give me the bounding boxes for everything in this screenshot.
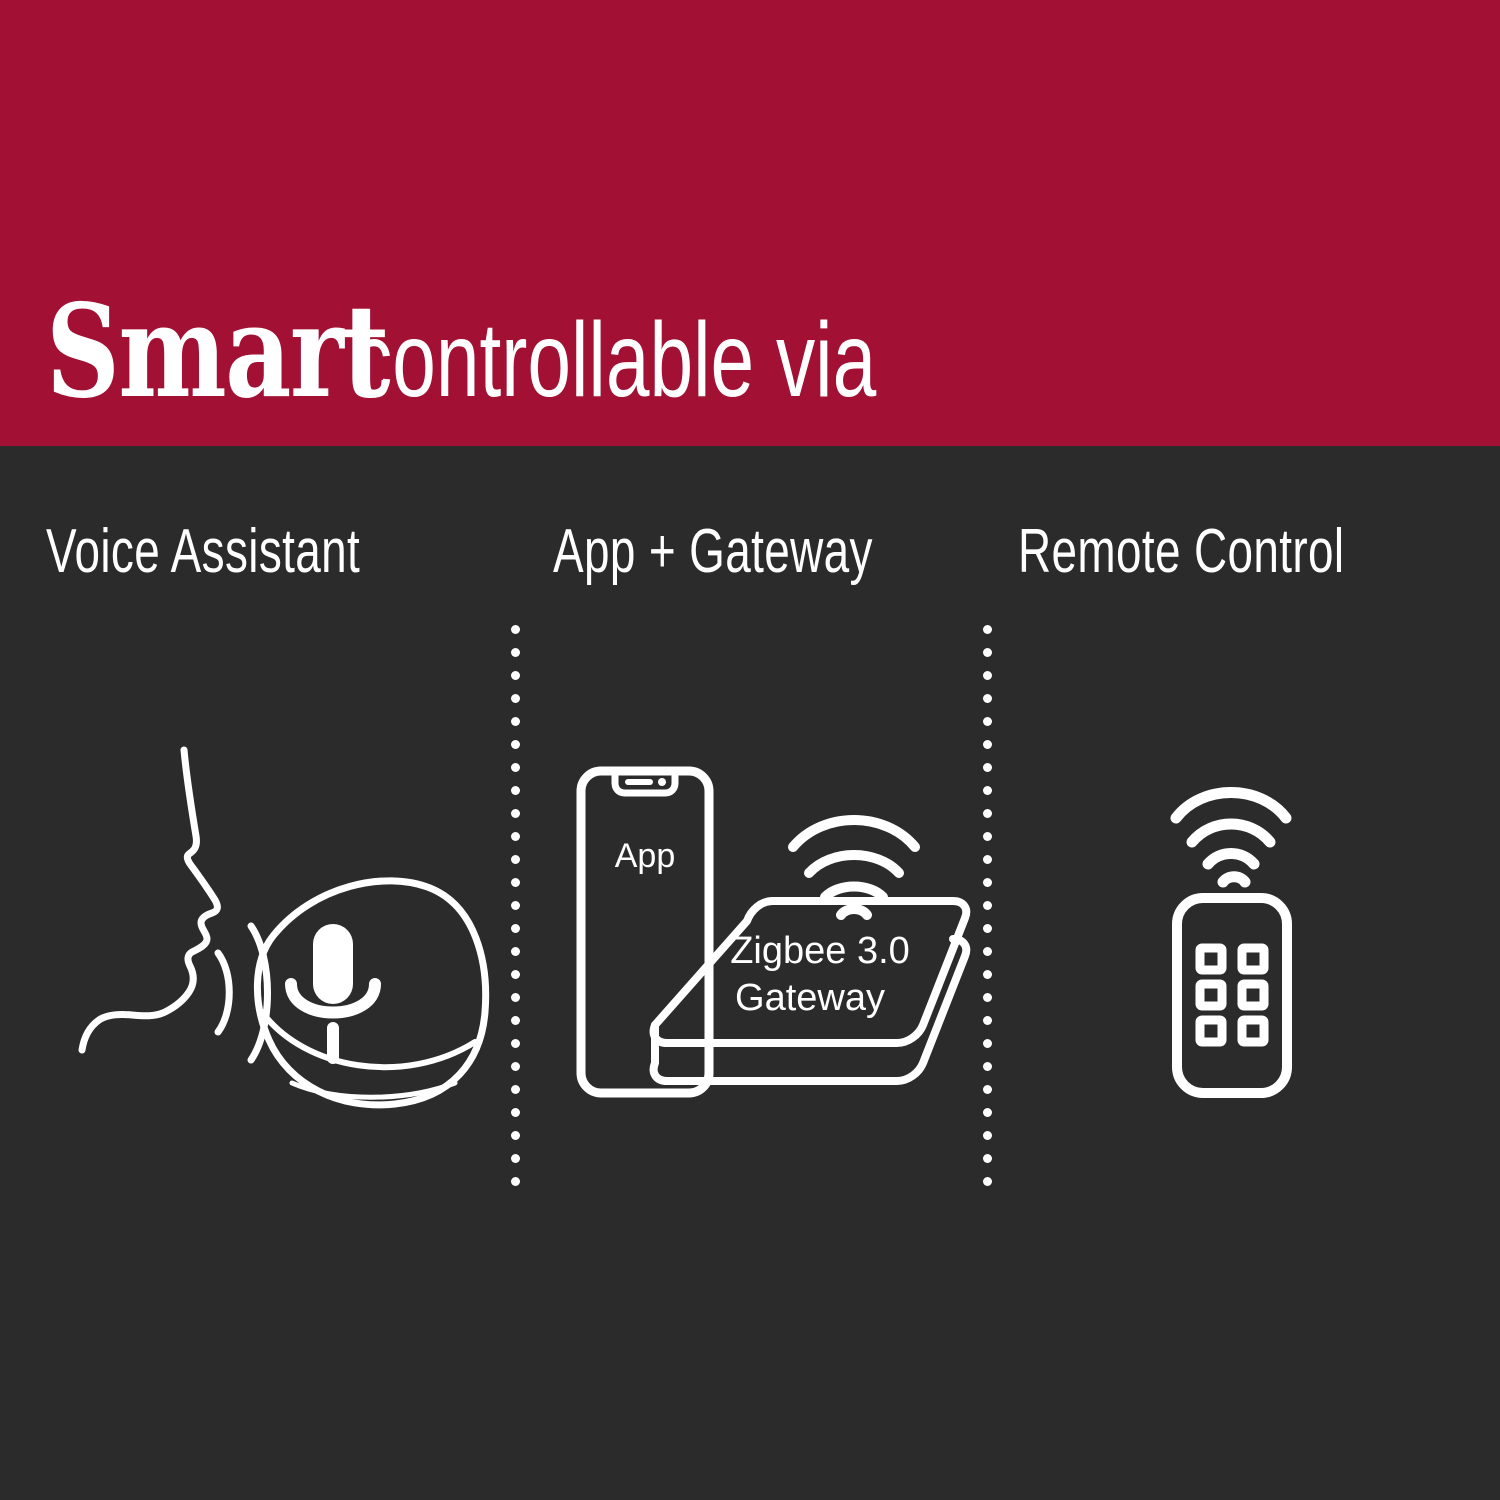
- divider-dot: [983, 1177, 992, 1186]
- divider-dot: [511, 1177, 520, 1186]
- divider-dot: [511, 901, 520, 910]
- page-title-strong: Smart: [46, 288, 388, 416]
- poster-root: Smartcontrollable via Voice Assistant Ap…: [0, 0, 1500, 1500]
- divider-dot: [511, 1154, 520, 1163]
- wifi-signal-icon: [1176, 793, 1286, 883]
- divider-dot: [511, 648, 520, 657]
- microphone-icon: [313, 924, 353, 1004]
- divider-dot: [983, 671, 992, 680]
- remote-button[interactable]: [1242, 984, 1264, 1006]
- divider-dot: [511, 809, 520, 818]
- app-gateway-illustration: App Zigbee 3.0 Gateway: [555, 755, 985, 1120]
- smartphone-app-label: App: [615, 837, 676, 875]
- divider-dot: [983, 717, 992, 726]
- page-title-light: controllable via: [353, 307, 876, 413]
- divider-dot: [511, 1131, 520, 1140]
- divider-dotted-left: [511, 625, 520, 1215]
- remote-button[interactable]: [1242, 1020, 1264, 1042]
- divider-dot: [983, 625, 992, 634]
- column-heading-app-gateway: App + Gateway: [553, 516, 873, 587]
- remote-button[interactable]: [1242, 948, 1264, 970]
- divider-dot: [511, 786, 520, 795]
- divider-dot: [511, 1062, 520, 1071]
- divider-dot: [511, 1085, 520, 1094]
- divider-dot: [983, 740, 992, 749]
- divider-dot: [511, 625, 520, 634]
- header-banner: Smartcontrollable via: [0, 0, 1500, 446]
- remote-button[interactable]: [1200, 984, 1222, 1006]
- remote-button[interactable]: [1200, 948, 1222, 970]
- column-heading-remote-control: Remote Control: [1018, 516, 1344, 587]
- divider-dot: [511, 855, 520, 864]
- divider-dot: [511, 740, 520, 749]
- remote-control-icon: [1177, 898, 1287, 1093]
- divider-dot: [511, 763, 520, 772]
- divider-dot: [511, 832, 520, 841]
- divider-dot: [511, 1108, 520, 1117]
- divider-dot: [511, 878, 520, 887]
- divider-dot: [983, 694, 992, 703]
- face-profile-icon: [82, 750, 217, 1050]
- divider-dot: [511, 1039, 520, 1048]
- divider-dot: [511, 970, 520, 979]
- voice-assistant-illustration: [55, 740, 495, 1120]
- divider-dot: [511, 993, 520, 1002]
- gateway-label-line1: Zigbee 3.0: [730, 930, 910, 972]
- divider-dot: [983, 648, 992, 657]
- divider-dot: [983, 1131, 992, 1140]
- microphone-stem-icon: [327, 1022, 339, 1064]
- page-title: Smartcontrollable via: [46, 288, 1060, 416]
- divider-dot: [511, 924, 520, 933]
- divider-dot: [511, 1016, 520, 1025]
- gateway-box-edge: [654, 1063, 667, 1081]
- gateway-box-top-face: [654, 901, 967, 1043]
- gateway-label-line2: Gateway: [735, 977, 885, 1019]
- smartphone-earpiece-icon: [625, 779, 653, 785]
- divider-dot: [983, 1154, 992, 1163]
- divider-dot: [511, 717, 520, 726]
- smartphone-camera-icon: [658, 778, 666, 786]
- remote-control-illustration: [1150, 770, 1350, 1100]
- divider-dot: [511, 947, 520, 956]
- smart-speaker-base-band: [262, 1012, 475, 1067]
- divider-dot: [511, 694, 520, 703]
- divider-dot: [511, 671, 520, 680]
- column-heading-voice-assistant: Voice Assistant: [46, 516, 360, 587]
- sound-waves-icon: [218, 953, 229, 1032]
- remote-button[interactable]: [1200, 1020, 1222, 1042]
